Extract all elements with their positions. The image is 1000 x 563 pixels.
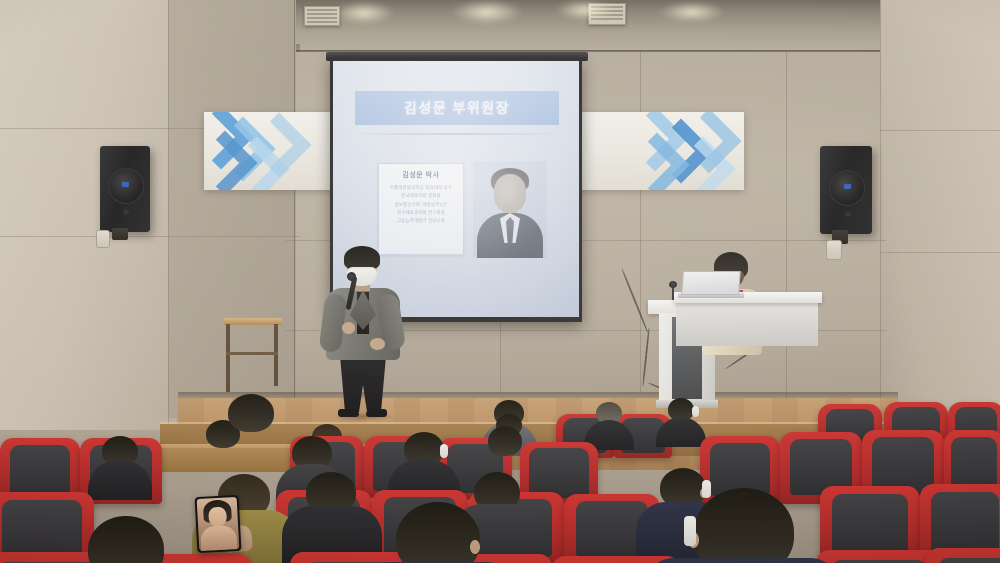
- audience-face-mask: [702, 480, 711, 498]
- ceiling-downlight: [452, 0, 522, 24]
- audience-head: [88, 516, 164, 563]
- podium-microphone-icon: [669, 281, 677, 288]
- slide-card-line: 정보통신기획 '개정공부3간': [382, 201, 460, 209]
- stool-rail: [226, 352, 278, 355]
- audience-face-mask: [684, 516, 696, 546]
- audience-shoulders: [644, 558, 840, 563]
- slide-header-text: 김성문 부위원장: [404, 98, 510, 118]
- speaker-bracket-left: [112, 228, 128, 240]
- audience-head: [488, 426, 522, 456]
- wall-seam: [880, 130, 1000, 131]
- wall-seam: [640, 52, 641, 392]
- ceiling-downlight: [660, 2, 724, 22]
- slide-card-title: 김성문 박사: [382, 170, 460, 180]
- smartphone: [195, 495, 242, 553]
- phone-photo-body: [200, 525, 237, 551]
- phone-screen: [197, 497, 240, 551]
- wall-outlet-plate-left: [96, 230, 110, 248]
- wall-seam: [880, 252, 1000, 253]
- auditorium-photo: 촉식 김성문 부위원장 김성문 박사 가톨릭관동대학교 의과대학 교수 한국체육…: [0, 0, 1000, 563]
- microphone-head-icon: [347, 272, 356, 281]
- presenter-hand: [370, 338, 385, 350]
- seat: [926, 548, 1000, 563]
- wall-seam: [786, 52, 787, 412]
- laptop-screen: [681, 271, 741, 295]
- slide-card-line: 한국체육학회 정회원: [382, 192, 460, 200]
- slide-card-line: 가톨릭관동대학교 의과대학 교수: [382, 184, 460, 192]
- ceiling-downlight: [556, 0, 614, 20]
- wall-seam: [294, 0, 295, 420]
- slide-header-bar: 김성문 부위원장: [355, 91, 559, 125]
- audience-face-mask: [440, 444, 448, 458]
- presentation-table-skirt: [676, 302, 818, 346]
- audience-head: [228, 394, 274, 432]
- audience-ear: [470, 540, 480, 554]
- slide-card-line: 고등능력개발기 전담교원: [382, 217, 460, 225]
- slide-divider: [353, 133, 561, 135]
- slide-credential-card: 김성문 박사 가톨릭관동대학교 의과대학 교수 한국체육학회 정회원 정보통신기…: [378, 163, 464, 255]
- mc-figure: [700, 252, 764, 362]
- wall-outlet-plate-right: [826, 240, 842, 260]
- audience-face-mask: [692, 406, 699, 417]
- wall-seam: [0, 236, 300, 237]
- seat: [816, 550, 942, 563]
- phone-photo-face: [208, 507, 227, 528]
- wall-speaker-right: [820, 146, 872, 234]
- audience-area: [0, 376, 1000, 563]
- slide-card-line: 한구체육과학회 연구위원: [382, 209, 460, 217]
- presenter-hand: [342, 322, 355, 334]
- wall-seam: [168, 0, 169, 430]
- ceiling-downlight: [334, 2, 394, 24]
- slide-portrait-photo: [473, 161, 547, 258]
- wall-speaker-left: [100, 146, 150, 232]
